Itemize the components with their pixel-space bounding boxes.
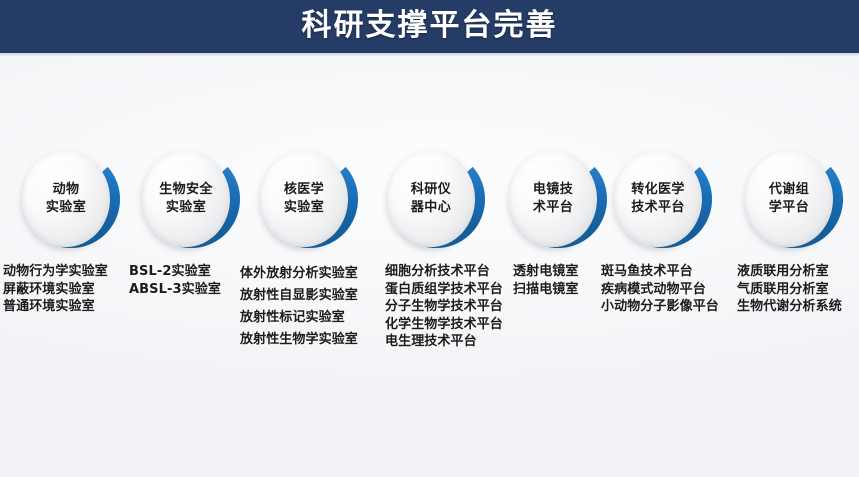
- page-title: 科研支撑平台完善: [0, 0, 859, 53]
- node-label-line: 代谢组: [769, 181, 809, 199]
- node-label-line: 实验室: [46, 199, 86, 217]
- list-item: 生物代谢分析系统: [737, 298, 842, 316]
- list-item: 透射电镜室: [513, 263, 579, 281]
- node-label-line: 器中心: [411, 199, 451, 217]
- list-item: 放射性标记实验室: [240, 307, 358, 329]
- slide-canvas: 动物 实验室 生物安全 实验室 核医学 实验室: [0, 56, 859, 477]
- node-label-line: 实验室: [166, 199, 206, 217]
- node-label: 科研仪 器中心: [387, 151, 475, 247]
- platform-node-research-instrument-center[interactable]: 科研仪 器中心: [381, 147, 489, 255]
- slide-root: 科研支撑平台完善 动物 实验室: [0, 0, 859, 477]
- node-label-line: 学平台: [769, 199, 809, 217]
- platform-node-biosafety-laboratory[interactable]: 生物安全 实验室: [136, 147, 244, 255]
- node-label-line: 电镜技: [533, 181, 573, 199]
- list-item: 疾病模式动物平台: [601, 281, 719, 299]
- list-item: 电生理技术平台: [385, 333, 503, 351]
- node-label: 转化医学 技术平台: [614, 151, 702, 247]
- node-label: 代谢组 学平台: [745, 151, 833, 247]
- node-label: 电镜技 术平台: [509, 151, 597, 247]
- platform-items-metabolomics-platform: 液质联用分析室 气质联用分析室 生物代谢分析系统: [737, 263, 842, 316]
- list-item: 斑马鱼技术平台: [601, 263, 719, 281]
- node-label-line: 生物安全: [159, 181, 213, 199]
- list-item: 普通环境实验室: [3, 298, 108, 316]
- list-item: BSL-2实验室: [129, 263, 221, 281]
- list-item: ABSL-3实验室: [129, 281, 221, 299]
- node-label-line: 动物: [53, 181, 80, 199]
- list-item: 化学生物学技术平台: [385, 316, 503, 334]
- platform-node-metabolomics-platform[interactable]: 代谢组 学平台: [739, 147, 847, 255]
- platform-items-animal-laboratory: 动物行为学实验室 屏蔽环境实验室 普通环境实验室: [3, 263, 108, 316]
- platform-node-electron-microscopy-platform[interactable]: 电镜技 术平台: [503, 147, 611, 255]
- list-item: 体外放射分析实验室: [240, 263, 358, 285]
- list-item: 气质联用分析室: [737, 281, 842, 299]
- list-item: 动物行为学实验室: [3, 263, 108, 281]
- platform-node-nuclear-medicine-laboratory[interactable]: 核医学 实验室: [254, 147, 362, 255]
- node-label: 生物安全 实验室: [142, 151, 230, 247]
- platform-items-nuclear-medicine-laboratory: 体外放射分析实验室 放射性自显影实验室 放射性标记实验室 放射性生物学实验室: [240, 263, 358, 351]
- list-item: 分子生物学技术平台: [385, 298, 503, 316]
- node-label: 核医学 实验室: [260, 151, 348, 247]
- list-item: 扫描电镜室: [513, 281, 579, 299]
- platform-items-translational-medicine-platform: 斑马鱼技术平台 疾病模式动物平台 小动物分子影像平台: [601, 263, 719, 316]
- node-label-line: 技术平台: [631, 199, 685, 217]
- slide-header: 科研支撑平台完善: [0, 0, 859, 53]
- node-label: 动物 实验室: [22, 151, 110, 247]
- platform-items-electron-microscopy-platform: 透射电镜室 扫描电镜室: [513, 263, 579, 298]
- node-label-line: 术平台: [533, 199, 573, 217]
- list-item: 蛋白质组学技术平台: [385, 281, 503, 299]
- list-item: 小动物分子影像平台: [601, 298, 719, 316]
- platform-node-animal-laboratory[interactable]: 动物 实验室: [16, 147, 124, 255]
- list-item: 屏蔽环境实验室: [3, 281, 108, 299]
- platform-items-biosafety-laboratory: BSL-2实验室 ABSL-3实验室: [129, 263, 221, 298]
- node-label-line: 转化医学: [631, 181, 685, 199]
- node-label-line: 核医学: [284, 181, 324, 199]
- list-item: 细胞分析技术平台: [385, 263, 503, 281]
- node-label-line: 科研仪: [411, 181, 451, 199]
- list-item: 放射性自显影实验室: [240, 285, 358, 307]
- list-item: 液质联用分析室: [737, 263, 842, 281]
- platform-items-research-instrument-center: 细胞分析技术平台 蛋白质组学技术平台 分子生物学技术平台 化学生物学技术平台 电…: [385, 263, 503, 351]
- list-item: 放射性生物学实验室: [240, 329, 358, 351]
- node-label-line: 实验室: [284, 199, 324, 217]
- platform-node-translational-medicine-platform[interactable]: 转化医学 技术平台: [608, 147, 716, 255]
